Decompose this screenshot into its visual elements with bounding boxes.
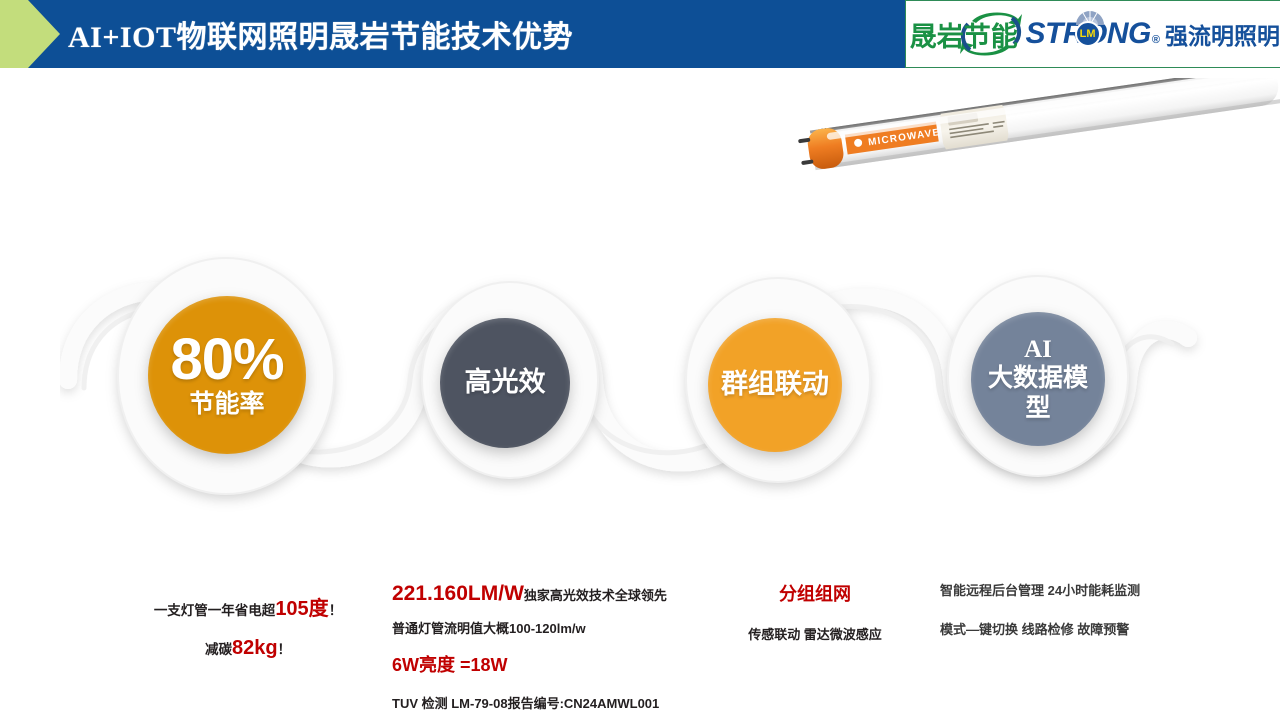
caption-column-2: 221.160LM/W独家高光效技术全球领先 普通灯管流明值大概100-120l… [392, 582, 712, 712]
page-title: AI+IOT物联网照明晟岩节能技术优势 [68, 0, 573, 68]
led-tube-product-image: MICROWAVE [770, 78, 1280, 198]
caption-4-line-1: 智能远程后台管理 24小时能耗监测 [940, 580, 1240, 599]
logo-tagline: 强流明照明 [1165, 17, 1280, 51]
node-0-subtitle: 节能率 [170, 390, 283, 420]
brand-logo: 晟岩节能 STRONG LM ® 强流明照明 [905, 0, 1280, 68]
caption-4-line-2: 模式—键切换 线路检修 故障预警 [940, 619, 1240, 638]
node-2-label: 群组联动 [721, 369, 829, 401]
caption-1-line-1-pre: 一支灯管一年省电超 [154, 603, 276, 618]
node-3-big-text: AI [977, 335, 1099, 365]
node-3-subtitle: 大数据模型 [977, 364, 1099, 423]
node-energy-saving-rate[interactable]: 80% 节能率 [148, 296, 306, 454]
node-ai-big-data-model[interactable]: AI 大数据模型 [971, 312, 1105, 446]
caption-2-line-4: TUV 检测 LM-79-08报告编号:CN24AMWL001 [392, 693, 712, 712]
caption-1-line-2: 减碳82kg！ [118, 637, 378, 660]
svg-text:MICROWAVE: MICROWAVE [867, 127, 941, 148]
caption-column-4: 智能远程后台管理 24小时能耗监测 模式—键切换 线路检修 故障预警 [940, 580, 1240, 638]
node-high-luminous-efficiency[interactable]: 高光效 [440, 318, 570, 448]
caption-2-line-3: 6W亮度 =18W [392, 651, 712, 677]
node-0-big-number: 80% [170, 331, 283, 389]
logo-chinese-brand-group: 晟岩节能 [906, 6, 1022, 62]
caption-1-line-2-post: ！ [278, 642, 292, 657]
caption-2-line-1: 221.160LM/W独家高光效技术全球领先 [392, 582, 712, 606]
caption-column-3: 分组组网 传感联动 雷达微波感应 [700, 580, 930, 643]
node-group-linkage[interactable]: 群组联动 [708, 318, 842, 452]
caption-2-lumen-note: 独家高光效技术全球领先 [524, 588, 667, 603]
caption-1-line-1-number: 105度 [275, 598, 328, 620]
logo-english-brand-group: STRONG LM ® [1026, 17, 1160, 51]
caption-1-line-1: 一支灯管一年省电超105度！ [118, 592, 378, 621]
registered-trademark-icon: ® [1152, 34, 1160, 46]
caption-3-line-2: 传感联动 雷达微波感应 [700, 624, 930, 643]
caption-column-1: 一支灯管一年省电超105度！ 减碳82kg！ [118, 592, 378, 660]
caption-1-line-2-number: 82kg [232, 637, 278, 659]
logo-lm-badge: LM [1075, 21, 1101, 47]
caption-2-line-2: 普通灯管流明值大概100-120lm/w [392, 618, 712, 637]
caption-2-lumen-value: 221.160LM/W [392, 582, 524, 605]
logo-chinese-text: 晟岩节能 [910, 15, 1018, 54]
node-1-label: 高光效 [465, 367, 546, 399]
node-3-label: AI 大数据模型 [971, 335, 1105, 424]
caption-1-line-1-post: ！ [329, 603, 343, 618]
caption-3-line-1: 分组组网 [700, 580, 930, 606]
node-0-label: 80% 节能率 [164, 331, 289, 420]
caption-1-line-2-pre: 减碳 [205, 642, 232, 657]
